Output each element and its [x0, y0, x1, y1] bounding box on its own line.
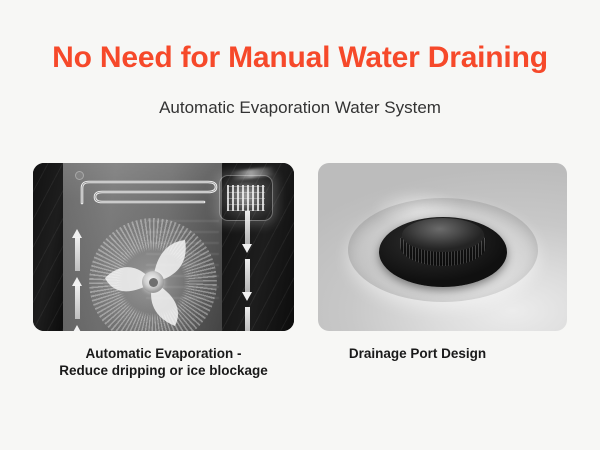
- arrow-up-icon: [72, 229, 83, 271]
- feature-cards: [33, 163, 567, 331]
- drainage-port-image: [318, 163, 567, 331]
- page-title: No Need for Manual Water Draining: [0, 40, 600, 76]
- coil-pipe-icon: [80, 176, 220, 206]
- fan-icon: [89, 218, 217, 331]
- caption-line-1: Drainage Port Design: [293, 345, 542, 362]
- caption-drainage-port: Drainage Port Design: [293, 345, 542, 362]
- fan-hub: [142, 271, 164, 293]
- caption-automatic-evaporation: Automatic Evaporation - Reduce dripping …: [23, 345, 304, 379]
- arrow-up-icon: [72, 277, 83, 319]
- arrow-down-icon: [242, 259, 253, 301]
- ac-interior-image: [33, 163, 294, 331]
- feature-card-drainage-port: [318, 163, 567, 331]
- control-box-chip: [227, 185, 265, 211]
- feature-card-automatic-evaporation: [33, 163, 294, 331]
- drain-plug-top: [402, 218, 484, 252]
- caption-line-1: Automatic Evaporation -: [23, 345, 304, 362]
- arrow-up-icon: [72, 325, 83, 331]
- page-subtitle: Automatic Evaporation Water System: [0, 96, 600, 120]
- drain-plug-icon: [400, 221, 486, 265]
- promo-banner: No Need for Manual Water Draining Automa…: [0, 0, 600, 450]
- ac-left-panel: [33, 163, 63, 331]
- arrow-down-icon: [242, 307, 253, 331]
- caption-line-2: Reduce dripping or ice blockage: [23, 362, 304, 379]
- arrow-down-icon: [242, 211, 253, 253]
